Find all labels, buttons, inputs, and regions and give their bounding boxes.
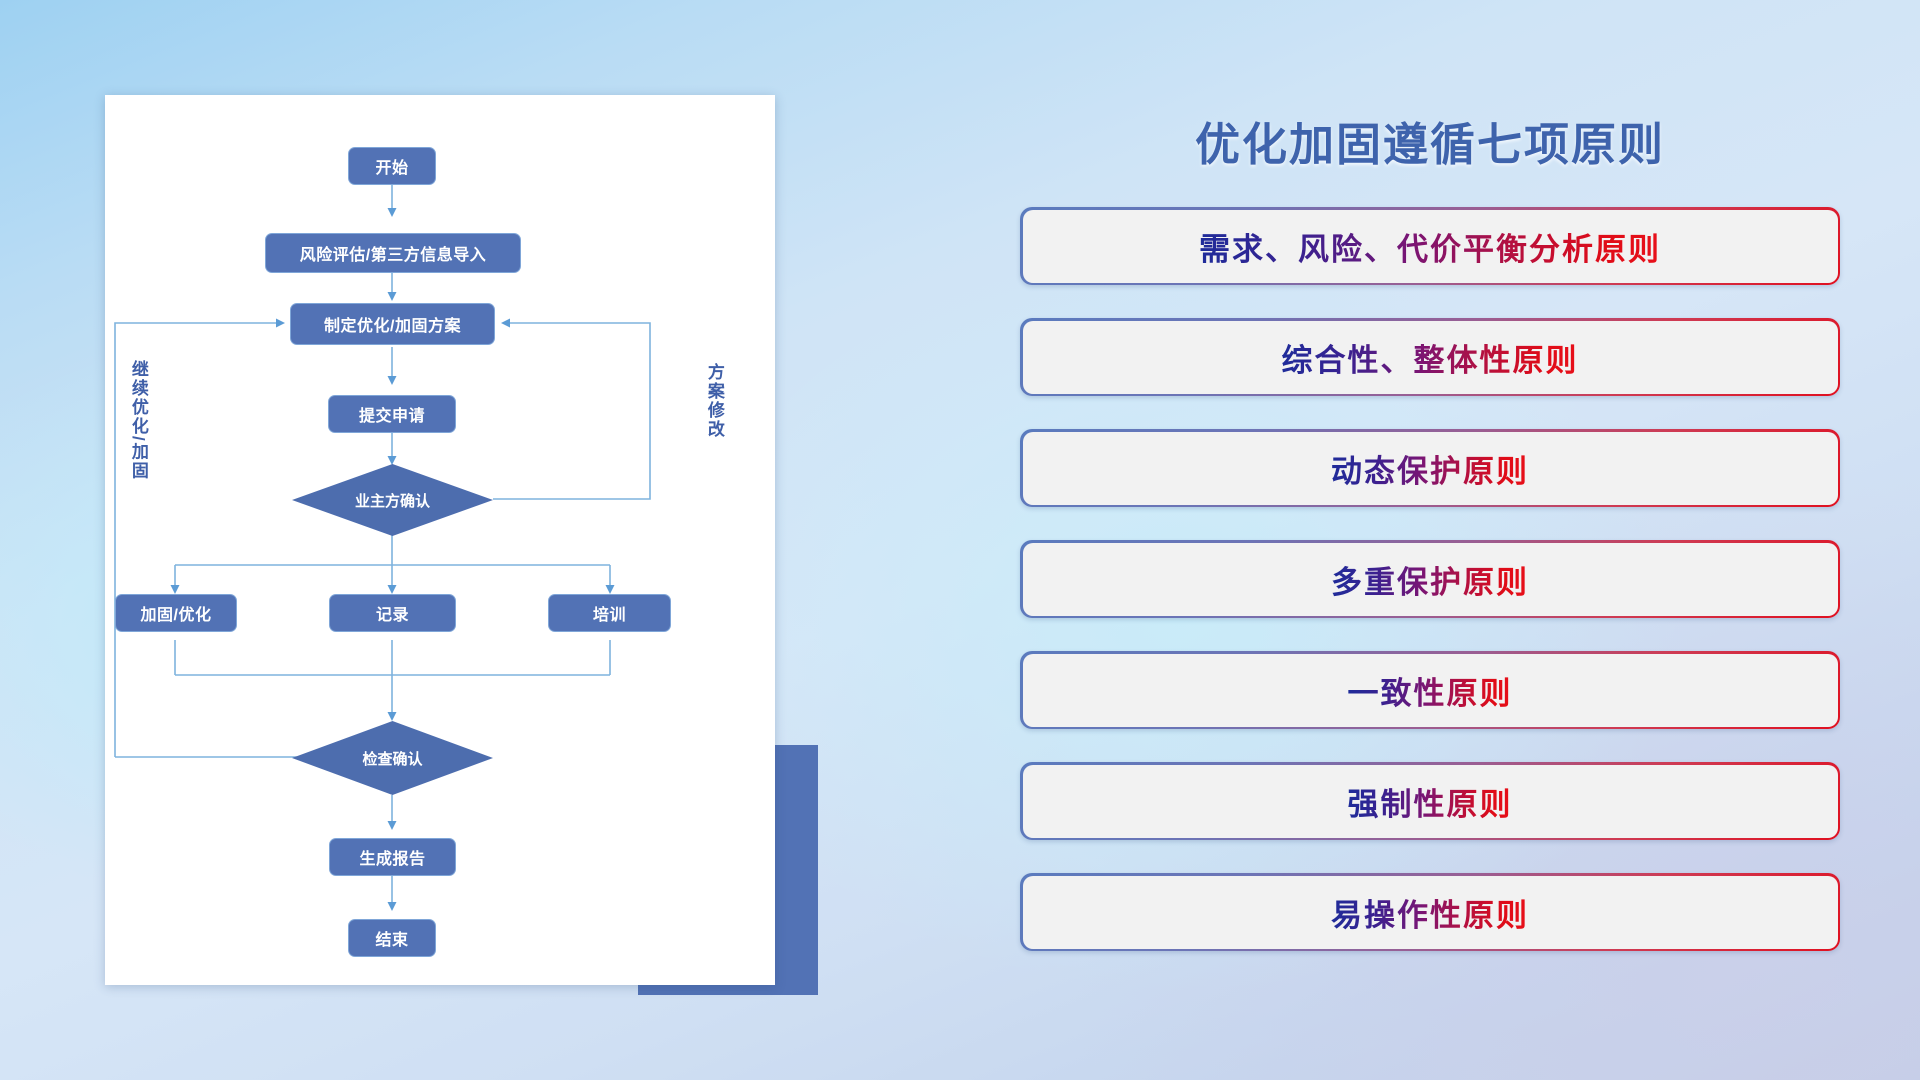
principle-label: 综合性、整体性原则 [1282,335,1579,380]
principle-label: 易操作性原则 [1331,890,1529,935]
principle-label: 动态保护原则 [1331,446,1529,491]
flow-node-label: 生成报告 [359,845,425,869]
principle-label: 一致性原则 [1348,668,1513,713]
flow-node-end[interactable]: 结束 [348,919,436,957]
flow-node-reinforce-optimize[interactable]: 加固/优化 [115,594,237,632]
flow-node-plan[interactable]: 制定优化/加固方案 [290,303,495,345]
flow-node-label: 业主方确认 [355,490,430,511]
principle-card[interactable]: 一致性原则 [1020,651,1840,729]
principle-label: 多重保护原则 [1331,557,1529,602]
principle-card-inner: 综合性、整体性原则 [1023,321,1838,394]
flow-node-risk-assessment[interactable]: 风险评估/第三方信息导入 [265,233,521,273]
flow-node-label: 制定优化/加固方案 [324,312,461,336]
flow-node-label: 培训 [593,601,626,625]
flow-node-generate-report[interactable]: 生成报告 [329,838,456,876]
flow-node-label: 检查确认 [362,748,422,769]
flow-node-label: 结束 [375,926,408,950]
principle-card[interactable]: 强制性原则 [1020,762,1840,840]
principle-card[interactable]: 综合性、整体性原则 [1020,318,1840,396]
principle-label: 强制性原则 [1348,779,1513,824]
principle-card-inner: 需求、风险、代价平衡分析原则 [1023,210,1838,283]
principle-card-inner: 易操作性原则 [1023,876,1838,949]
principle-card-inner: 强制性原则 [1023,765,1838,838]
flow-node-label: 加固/优化 [141,601,212,625]
flow-node-label: 记录 [376,601,409,625]
principle-card[interactable]: 多重保护原则 [1020,540,1840,618]
flow-node-training[interactable]: 培训 [548,594,671,632]
principle-card-inner: 动态保护原则 [1023,432,1838,505]
principle-card-inner: 一致性原则 [1023,654,1838,727]
principle-card[interactable]: 易操作性原则 [1020,873,1840,951]
flow-edge-label-left-loop: 继续优化/加固 [129,360,147,481]
principle-card-inner: 多重保护原则 [1023,543,1838,616]
flow-node-submit-application[interactable]: 提交申请 [328,395,456,433]
panel-title: 优化加固遵循七项原则 [1020,108,1840,173]
principle-label: 需求、风险、代价平衡分析原则 [1199,224,1661,269]
flow-node-label: 风险评估/第三方信息导入 [300,241,486,265]
principles-panel: 优化加固遵循七项原则 需求、风险、代价平衡分析原则 综合性、整体性原则 动态保护… [1020,108,1840,1008]
flow-edge-label-right-loop: 方案修改 [705,363,723,439]
principle-card[interactable]: 需求、风险、代价平衡分析原则 [1020,207,1840,285]
flowchart-card: 开始 风险评估/第三方信息导入 制定优化/加固方案 提交申请 业主方确认 加固/… [105,95,775,985]
flow-node-record[interactable]: 记录 [329,594,456,632]
flow-node-start[interactable]: 开始 [348,147,436,185]
flow-node-label: 开始 [375,154,408,178]
principle-card[interactable]: 动态保护原则 [1020,429,1840,507]
flow-node-label: 提交申请 [359,402,425,426]
